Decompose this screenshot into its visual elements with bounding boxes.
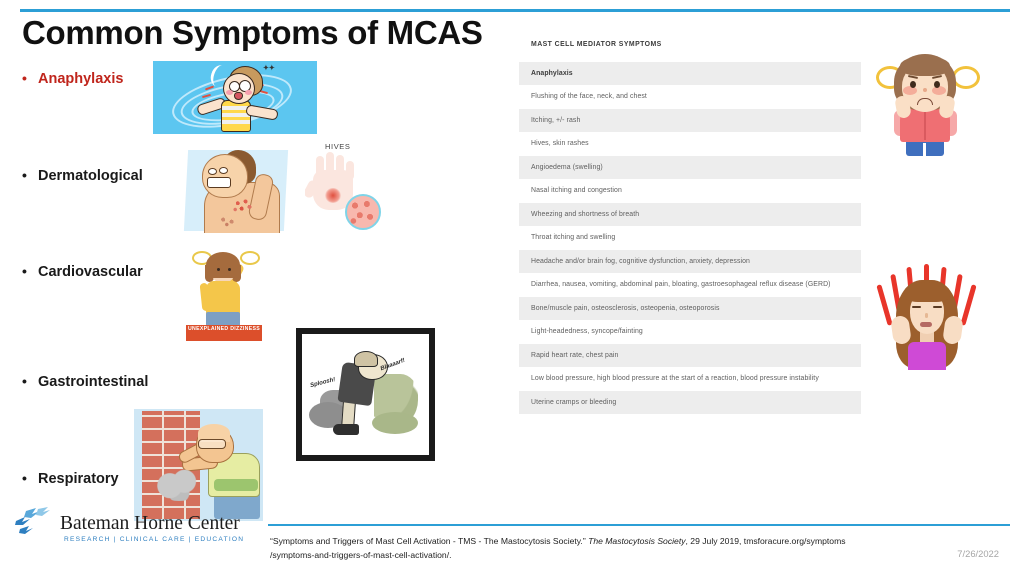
table-header-cell: MAST CELL MEDIATOR SYMPTOMS bbox=[519, 28, 861, 62]
page-title: Common Symptoms of MCAS bbox=[22, 14, 483, 52]
mouth bbox=[917, 98, 933, 105]
bullet-label: Respiratory bbox=[38, 471, 119, 487]
hair-fringe bbox=[900, 56, 950, 76]
bullet-label: Anaphylaxis bbox=[38, 71, 123, 87]
table-row: Wheezing and shortness of breath bbox=[519, 203, 861, 227]
bullet-marker: • bbox=[22, 470, 38, 486]
eye-left-closed bbox=[912, 306, 921, 308]
logo-organization-name: Bateman Horne Center bbox=[60, 513, 240, 535]
pain-wave bbox=[960, 284, 976, 326]
table-row: Bone/muscle pain, osteosclerosis, osteop… bbox=[519, 297, 861, 321]
unexplained-dizziness-label: UNEXPLAINED DIZZINESS bbox=[186, 325, 262, 341]
bullet-item-gastrointestinal: •Gastrointestinal bbox=[22, 373, 148, 390]
bullet-item-cardiovascular: •Cardiovascular bbox=[22, 263, 143, 280]
hair bbox=[354, 351, 378, 367]
headache-character-image bbox=[872, 258, 982, 370]
mouth bbox=[207, 177, 231, 188]
logo-tagline: RESEARCH | CLINICAL CARE | EDUCATION bbox=[64, 536, 244, 543]
eye-right bbox=[219, 167, 228, 174]
table-row: Light-headedness, syncope/fainting bbox=[519, 320, 861, 344]
pants-gap bbox=[923, 143, 926, 156]
citation-source-italic: The Mastocytosis Society bbox=[588, 536, 685, 546]
flush-cheek-right bbox=[932, 86, 946, 95]
citation-part-1: “Symptoms and Triggers of Mast Cell Acti… bbox=[270, 536, 588, 546]
table-row: Throat itching and swelling bbox=[519, 226, 861, 250]
hive-spot bbox=[325, 188, 341, 203]
bullet-item-anaphylaxis: •Anaphylaxis bbox=[22, 70, 123, 87]
table-row: Diarrhea, nausea, vomiting, abdominal pa… bbox=[519, 273, 861, 297]
mouth bbox=[234, 92, 243, 100]
shoe bbox=[333, 424, 359, 435]
belt bbox=[214, 479, 258, 491]
bullet-marker: • bbox=[22, 373, 38, 389]
shirt-seam bbox=[924, 110, 926, 140]
nose bbox=[925, 313, 928, 318]
dermatological-image bbox=[178, 148, 296, 233]
hand-right bbox=[942, 315, 964, 345]
eye-left bbox=[910, 81, 916, 88]
citation-text: “Symptoms and Triggers of Mast Cell Acti… bbox=[270, 534, 890, 562]
table-row: Uterine cramps or bleeding bbox=[519, 391, 861, 415]
gastrointestinal-cartoon-image: Sploosh! Blaaaarf! bbox=[296, 328, 435, 461]
table-row: Angioedema (swelling) bbox=[519, 156, 861, 180]
nose bbox=[923, 88, 927, 92]
body-shirt bbox=[221, 100, 251, 132]
table-row: Anaphylaxis bbox=[519, 62, 861, 86]
bullet-label: Gastrointestinal bbox=[38, 374, 148, 390]
cough-cloud bbox=[156, 467, 202, 501]
bullet-item-respiratory: •Respiratory bbox=[22, 470, 119, 487]
pain-wave bbox=[876, 284, 892, 326]
mast-cell-mediator-symptoms-table: MAST CELL MEDIATOR SYMPTOMS Anaphylaxis … bbox=[519, 28, 861, 520]
dizzy-star-right bbox=[240, 251, 260, 265]
onomatopoeia-left: Sploosh! bbox=[310, 377, 336, 389]
footer-divider-rule bbox=[268, 524, 1010, 526]
bateman-horne-center-logo: Bateman Horne Center RESEARCH | CLINICAL… bbox=[12, 505, 244, 549]
cardiovascular-image: UNEXPLAINED DIZZINESS bbox=[186, 249, 262, 341]
flushing-character-image bbox=[872, 44, 982, 156]
flush-cheek-left bbox=[903, 86, 917, 95]
eye-right bbox=[228, 268, 231, 271]
pool-green bbox=[372, 412, 418, 434]
table-row: Hives, skin rashes bbox=[519, 132, 861, 156]
table-row: Headache and/or brain fog, cognitive dys… bbox=[519, 250, 861, 274]
dizzy-mark: ✦✦ bbox=[263, 64, 275, 72]
skin-rash-secondary bbox=[216, 214, 240, 228]
bullet-marker: • bbox=[22, 70, 38, 86]
birds-logo-icon bbox=[12, 507, 58, 541]
hives-image: HIVES bbox=[305, 142, 383, 234]
eye-left bbox=[208, 168, 217, 175]
top-garment bbox=[908, 342, 946, 370]
head bbox=[202, 154, 248, 198]
table-row: Rapid heart rate, chest pain bbox=[519, 344, 861, 368]
eye-right-closed bbox=[933, 306, 942, 308]
bullet-label: Dermatological bbox=[38, 168, 143, 184]
top-divider-rule bbox=[20, 9, 1010, 12]
cheek-left bbox=[226, 90, 233, 95]
table-row: Nasal itching and congestion bbox=[519, 179, 861, 203]
hives-caption: HIVES bbox=[325, 142, 351, 151]
bullet-label: Cardiovascular bbox=[38, 264, 143, 280]
bullet-marker: • bbox=[22, 263, 38, 279]
bullet-item-dermatological: •Dermatological bbox=[22, 167, 143, 184]
bullet-marker: • bbox=[22, 167, 38, 183]
hair-top bbox=[206, 252, 240, 278]
glasses bbox=[198, 439, 226, 449]
hair-fringe bbox=[904, 282, 950, 302]
magnified-rash-circle bbox=[345, 194, 381, 230]
eye-left bbox=[217, 268, 220, 271]
slide-canvas: Common Symptoms of MCAS •Anaphylaxis •De… bbox=[0, 0, 1024, 578]
eye-right bbox=[934, 81, 940, 88]
table-row: Itching, +/- rash bbox=[519, 109, 861, 133]
slide-date: 7/26/2022 bbox=[957, 548, 999, 559]
table-row: Low blood pressure, high blood pressure … bbox=[519, 367, 861, 391]
shirt bbox=[206, 281, 240, 315]
anaphylaxis-cartoon-image: ✦✦ bbox=[153, 61, 317, 134]
steam-puff-right bbox=[952, 66, 980, 89]
skin-rash bbox=[230, 196, 256, 214]
table-row: Flushing of the face, neck, and chest bbox=[519, 85, 861, 109]
cheek-right bbox=[245, 90, 252, 95]
mouth bbox=[920, 322, 932, 327]
